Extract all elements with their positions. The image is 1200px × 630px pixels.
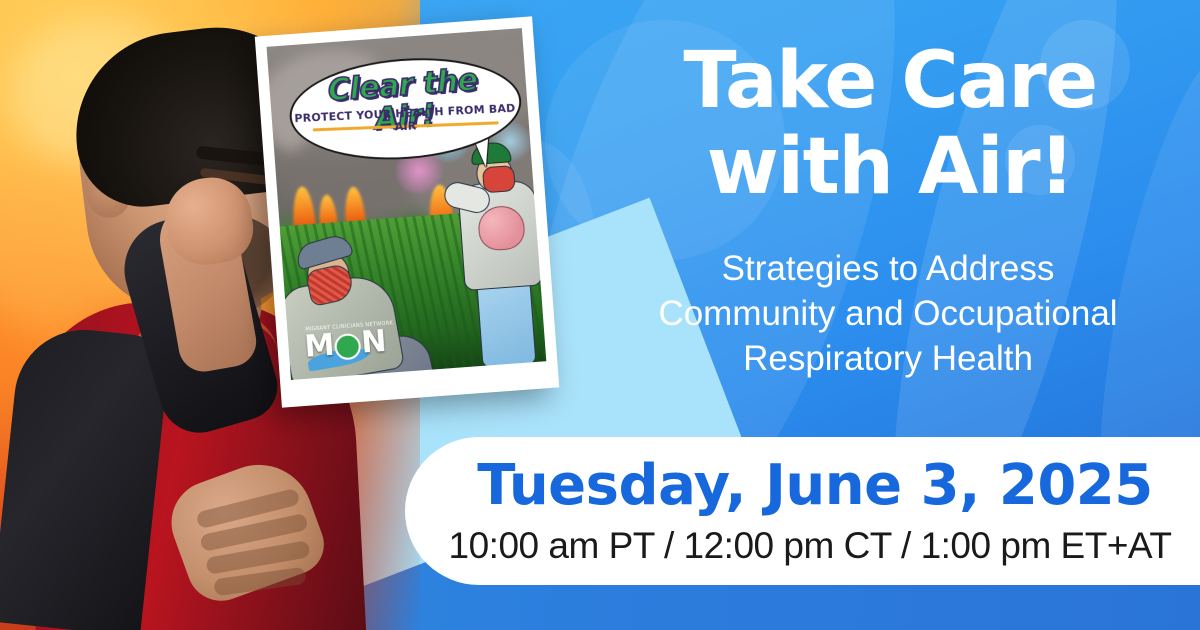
comic-white-border: Clear the Air! PROTECT YOUR HEALTH FROM … xyxy=(255,16,559,407)
comic-worker-right-bandana xyxy=(482,165,516,193)
page-title: Take Care with Air! xyxy=(600,38,1180,210)
event-times: 10:00 am PT / 12:00 pm CT / 1:00 pm ET+A… xyxy=(435,525,1185,567)
comic-artwork: Clear the Air! PROTECT YOUR HEALTH FROM … xyxy=(267,28,547,380)
event-date: Tuesday, June 3, 2025 xyxy=(465,453,1165,518)
globe-icon xyxy=(334,332,362,360)
mcn-logo-m: M xyxy=(303,328,334,365)
page-subtitle: Strategies to Address Community and Occu… xyxy=(588,246,1188,381)
comic-book-cover: Clear the Air! PROTECT YOUR HEALTH FROM … xyxy=(255,16,559,407)
mcn-logo: M N xyxy=(303,324,386,365)
subhead-line-2: Community and Occupational xyxy=(588,291,1188,336)
subhead-line-1: Strategies to Address xyxy=(588,246,1188,291)
date-banner: Tuesday, June 3, 2025 10:00 am PT / 12:0… xyxy=(405,437,1200,585)
mcn-logo-n: N xyxy=(360,324,387,361)
headline-line-2: with Air! xyxy=(600,124,1180,210)
headline-line-1: Take Care xyxy=(600,38,1180,124)
subhead-line-3: Respiratory Health xyxy=(588,336,1188,381)
promo-graphic: Clear the Air! PROTECT YOUR HEALTH FROM … xyxy=(0,0,1200,630)
